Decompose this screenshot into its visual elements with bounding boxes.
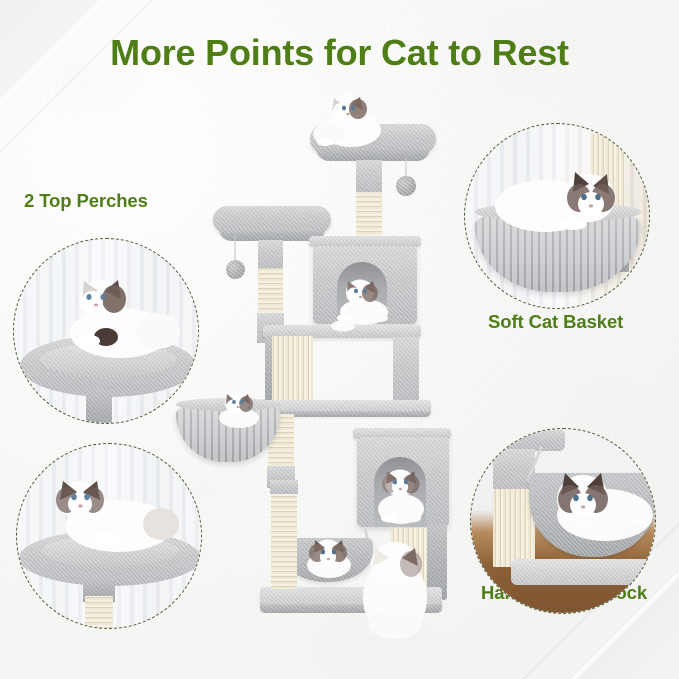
post-top-upper-collar bbox=[356, 160, 382, 194]
cat-in-hammock bbox=[300, 532, 358, 582]
cat-in-hammock bbox=[539, 459, 655, 549]
callout-top-perch-2-photo bbox=[17, 444, 201, 628]
infographic-page: More Points for Cat to Rest bbox=[0, 0, 679, 679]
cat-in-upper-condo bbox=[330, 272, 396, 324]
feature-label-top-perches: 2 Top Perches bbox=[24, 190, 148, 212]
tower-platform-top bbox=[479, 429, 565, 451]
cat-in-lower-condo bbox=[368, 462, 434, 524]
perch-support-sisal bbox=[85, 596, 113, 628]
post-base-sisal bbox=[271, 487, 297, 589]
callout-top-perch-1 bbox=[13, 238, 199, 424]
post-top-lower-collar bbox=[258, 240, 283, 270]
post-top-lower-sisal bbox=[258, 268, 283, 316]
cat-climbing-base bbox=[355, 520, 435, 640]
dangling-pompom-lower bbox=[226, 260, 245, 279]
scratching-board-middle bbox=[271, 336, 313, 402]
pompom-string-upper bbox=[405, 158, 407, 178]
cat-on-perch bbox=[47, 470, 177, 556]
callout-hanging-hammock-photo bbox=[471, 429, 655, 613]
cat-on-perch bbox=[54, 271, 174, 361]
scratching-board-frame bbox=[265, 336, 272, 402]
feature-label-soft-cat-basket: Soft Cat Basket bbox=[488, 311, 623, 333]
perch-support-post bbox=[86, 389, 112, 423]
post-base-collar bbox=[270, 480, 298, 494]
cat-paw-on-middle-platform bbox=[330, 318, 356, 332]
callout-hanging-hammock bbox=[470, 428, 656, 614]
callout-top-perch-2 bbox=[16, 443, 202, 629]
cat-in-basket bbox=[487, 154, 627, 234]
pompom-string-lower bbox=[234, 236, 236, 262]
callout-soft-cat-basket bbox=[464, 123, 650, 309]
tower-base-board bbox=[511, 559, 655, 585]
pillar-right-upper bbox=[393, 337, 419, 403]
dangling-pompom-upper bbox=[396, 176, 416, 196]
cat-in-side-basket bbox=[213, 386, 265, 428]
callout-soft-cat-basket-photo bbox=[465, 124, 649, 308]
callout-top-perch-1-photo bbox=[14, 239, 198, 423]
cat-on-upper-perch bbox=[303, 86, 389, 148]
